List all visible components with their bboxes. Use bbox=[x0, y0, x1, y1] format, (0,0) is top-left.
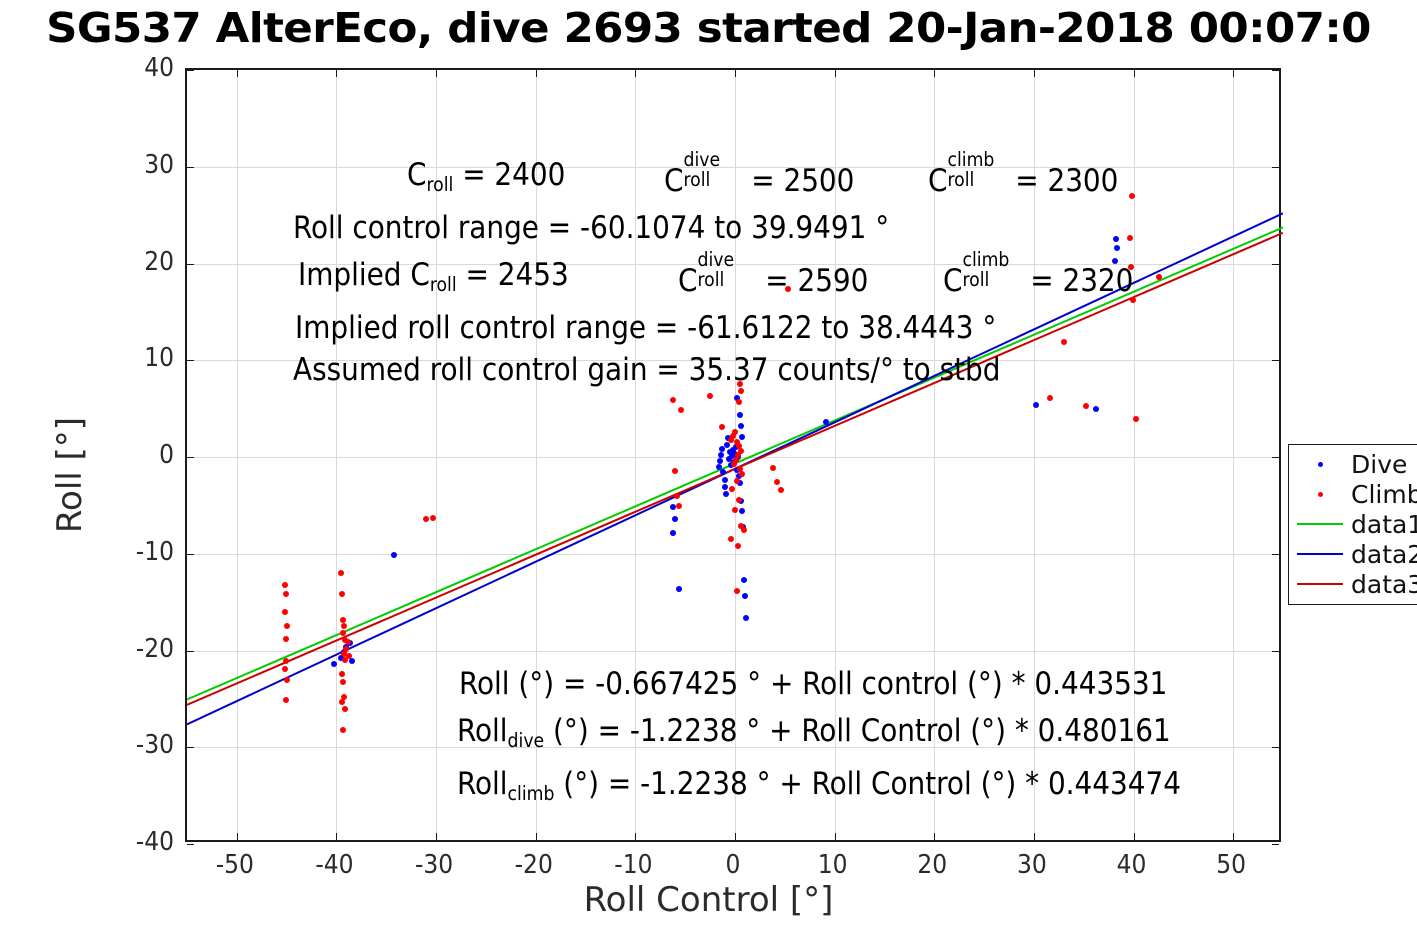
anno-implied-c-climb: Cclimbroll = 2320 bbox=[943, 260, 1133, 297]
legend-item-dive[interactable]: Dive bbox=[1289, 449, 1417, 479]
x-tick-label: 30 bbox=[1017, 850, 1047, 880]
x-tick-label: -30 bbox=[415, 850, 453, 880]
x-tick-label: 0 bbox=[726, 850, 741, 880]
anno-c-roll-climb: Cclimbroll = 2300 bbox=[928, 160, 1118, 197]
legend-label: data2 bbox=[1351, 542, 1417, 567]
anno-implied-range: Implied roll control range = -61.6122 to… bbox=[295, 313, 996, 344]
y-tick-label: -40 bbox=[136, 827, 174, 857]
legend-label: data3 bbox=[1351, 572, 1417, 597]
y-tick-label: 10 bbox=[144, 343, 174, 373]
legend-swatch bbox=[1297, 583, 1343, 585]
y-axis-tick bbox=[1272, 844, 1279, 845]
legend-swatch bbox=[1297, 523, 1343, 525]
y-tick-label: 20 bbox=[144, 247, 174, 277]
anno-equation-roll: Roll (°) = -0.667425 ° + Roll control (°… bbox=[459, 669, 1167, 700]
anno-implied-c-dive: Cdiveroll = 2590 bbox=[678, 260, 868, 297]
y-tick-label: 40 bbox=[144, 53, 174, 83]
anno-assumed-gain: Assumed roll control gain = 35.37 counts… bbox=[293, 355, 1000, 386]
legend-marker-icon bbox=[1289, 492, 1351, 497]
legend-item-climb[interactable]: Climb bbox=[1289, 479, 1417, 509]
y-axis-title: Roll [°] bbox=[50, 325, 90, 625]
anno-c-roll: Croll = 2400 bbox=[407, 160, 565, 194]
legend-label: data1 bbox=[1351, 512, 1417, 537]
legend-swatch bbox=[1318, 492, 1323, 497]
anno-c-roll-dive: Cdiveroll = 2500 bbox=[664, 160, 854, 197]
y-tick-label: -10 bbox=[136, 537, 174, 567]
x-tick-label: -50 bbox=[216, 850, 254, 880]
y-tick-label: -30 bbox=[136, 730, 174, 760]
legend-swatch bbox=[1297, 553, 1343, 555]
x-tick-label: -10 bbox=[614, 850, 652, 880]
annotation-layer: Croll = 2400 Cdiveroll = 2500 Cclimbroll… bbox=[187, 70, 1279, 840]
anno-implied-c-roll: Implied Croll = 2453 bbox=[298, 260, 569, 294]
legend-label: Climb bbox=[1351, 482, 1417, 507]
x-tick-label: 10 bbox=[818, 850, 848, 880]
anno-equation-roll-climb: Rollclimb (°) = -1.2238 ° + Roll Control… bbox=[457, 769, 1181, 803]
legend-line-swatch-icon bbox=[1289, 523, 1351, 525]
legend-item-data1[interactable]: data1 bbox=[1289, 509, 1417, 539]
x-tick-label: -40 bbox=[315, 850, 353, 880]
x-tick-label: 40 bbox=[1117, 850, 1147, 880]
x-tick-label: -20 bbox=[515, 850, 553, 880]
legend-label: Dive bbox=[1351, 452, 1407, 477]
legend-marker-icon bbox=[1289, 462, 1351, 467]
y-axis-tick bbox=[187, 844, 194, 845]
figure-title: SG537 AlterEco, dive 2693 started 20-Jan… bbox=[0, 2, 1417, 54]
figure-root: SG537 AlterEco, dive 2693 started 20-Jan… bbox=[0, 0, 1417, 945]
plot-area: Croll = 2400 Cdiveroll = 2500 Cclimbroll… bbox=[185, 68, 1281, 842]
y-tick-label: -20 bbox=[136, 634, 174, 664]
legend-line-swatch-icon bbox=[1289, 553, 1351, 555]
anno-equation-roll-dive: Rolldive (°) = -1.2238 ° + Roll Control … bbox=[457, 716, 1171, 750]
y-tick-label: 30 bbox=[144, 150, 174, 180]
legend-swatch bbox=[1318, 462, 1323, 467]
x-axis-title: Roll Control [°] bbox=[0, 880, 1417, 920]
legend-line-swatch-icon bbox=[1289, 583, 1351, 585]
x-tick-label: 20 bbox=[917, 850, 947, 880]
legend: DiveClimbdata1data2data3 bbox=[1288, 444, 1417, 605]
x-tick-label: 50 bbox=[1216, 850, 1246, 880]
anno-roll-control-range: Roll control range = -60.1074 to 39.9491… bbox=[293, 213, 889, 244]
legend-item-data2[interactable]: data2 bbox=[1289, 539, 1417, 569]
legend-item-data3[interactable]: data3 bbox=[1289, 569, 1417, 599]
y-tick-label: 0 bbox=[159, 440, 174, 470]
